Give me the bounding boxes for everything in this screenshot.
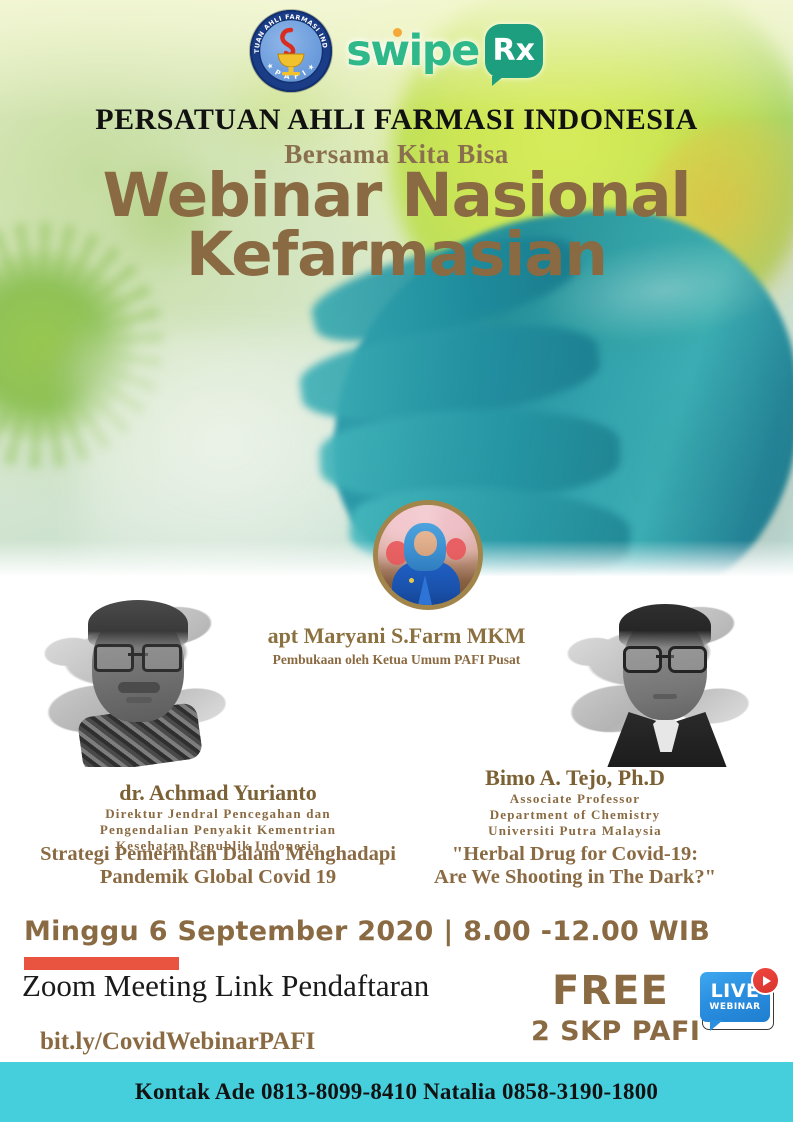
live-webinar-badge: LIVE WEBINAR [700, 972, 778, 1038]
mouth-shape [653, 694, 677, 699]
topic-line-1: "Herbal Drug for Covid-19: [360, 843, 790, 866]
lapel-pin-icon [409, 578, 414, 583]
center-speaker-role: Pembukaan oleh Ketua Umum PAFI Pusat [0, 652, 793, 668]
topic-line-2: Are We Shooting in The Dark?" [360, 866, 790, 889]
swiperx-logo: swipe Rx [346, 24, 543, 78]
event-datetime: Minggu 6 September 2020 | 8.00 -12.00 WI… [24, 916, 710, 947]
webinar-label: WEBINAR [709, 1003, 760, 1012]
play-button-icon [751, 966, 780, 995]
mouth-shape [126, 697, 152, 703]
face-shape [414, 531, 437, 556]
speaker-name-right: Bimo A. Tejo, Ph.D [365, 765, 785, 791]
center-speaker-name: apt Maryani S.Farm MKM [0, 623, 793, 649]
zoom-registration-label: Zoom Meeting Link Pendaftaran [22, 968, 429, 1004]
speaker-photo-right [545, 582, 775, 767]
speaker-photo-center [373, 500, 483, 610]
swipe-dot-icon [393, 28, 402, 37]
page-title: Webinar Nasional Kefarmasian [0, 166, 793, 284]
rx-bubble-icon: Rx [485, 24, 543, 78]
skp-badge: 2 SKP PAFI [531, 1016, 700, 1047]
title-line-2: Kefarmasian [0, 225, 793, 284]
swipe-wordmark: swipe [346, 30, 479, 73]
moustache-shape [118, 682, 160, 693]
speaker-topic-right: "Herbal Drug for Covid-19: Are We Shooti… [360, 843, 790, 889]
pafi-logo-icon: PERSATUAN AHLI FARMASI INDONESIA ★ P A F… [250, 10, 332, 92]
contact-footer: Kontak Ade 0813-8099-8410 Natalia 0858-3… [0, 1062, 793, 1122]
organization-name: PERSATUAN AHLI FARMASI INDONESIA [0, 103, 793, 137]
speaker-affiliation-right: Associate Professor Department of Chemis… [365, 791, 785, 839]
bowl-of-hygieia-icon [270, 26, 312, 76]
speaker-photo-left [22, 582, 252, 767]
lantern-icon [446, 538, 466, 560]
webinar-poster: PERSATUAN AHLI FARMASI INDONESIA ★ P A F… [0, 0, 793, 1122]
registration-link[interactable]: bit.ly/CovidWebinarPAFI [40, 1028, 315, 1056]
logo-row: PERSATUAN AHLI FARMASI INDONESIA ★ P A F… [0, 8, 793, 94]
contact-text: Kontak Ade 0813-8099-8410 Natalia 0858-3… [135, 1079, 658, 1105]
rx-label: Rx [493, 36, 535, 66]
free-badge: FREE [552, 968, 669, 1014]
